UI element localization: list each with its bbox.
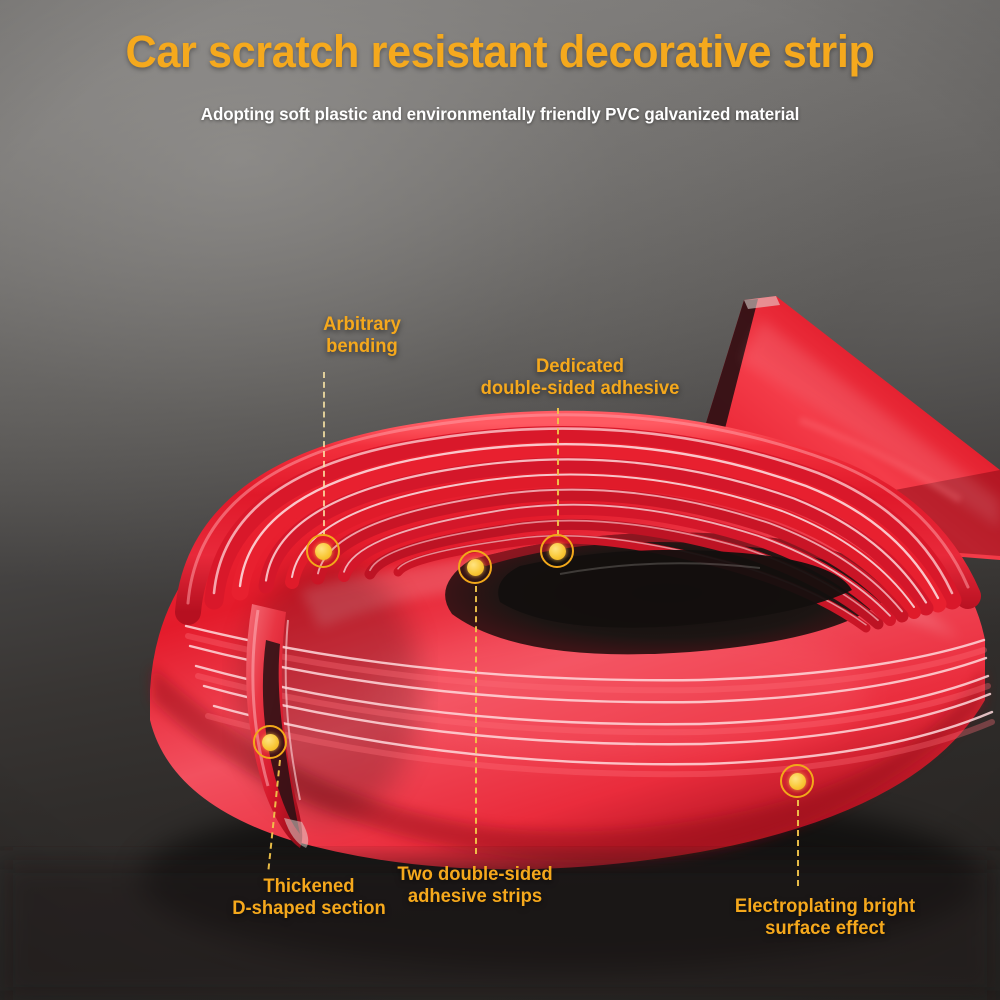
callout-label-electroplating-surface: Electroplating bright surface effect [704, 896, 947, 941]
callout-label-two-adhesive-strips: Two double-sided adhesive strips [383, 864, 567, 909]
page-subtitle: Adopting soft plastic and environmentall… [15, 104, 985, 125]
callout-label-arbitrary-bending: Arbitrary bending [275, 314, 450, 359]
page-title: Car scratch resistant decorative strip [20, 26, 980, 78]
product-poster: Car scratch resistant decorative strip A… [0, 0, 1000, 1000]
marker-electroplating-surface[interactable] [780, 764, 814, 798]
marker-dedicated-adhesive[interactable] [540, 534, 574, 568]
leader-line-arbitrary-bending [323, 372, 325, 536]
callout-label-dedicated-adhesive: Dedicated double-sided adhesive [425, 356, 735, 401]
marker-thickened-d-section[interactable] [253, 725, 287, 759]
leader-line-two-adhesive-strips [475, 586, 477, 854]
leader-line-electroplating-surface [797, 800, 799, 886]
leader-line-dedicated-adhesive [557, 408, 559, 536]
product-illustration [0, 0, 1000, 1000]
marker-two-adhesive-strips[interactable] [458, 550, 492, 584]
marker-arbitrary-bending[interactable] [306, 534, 340, 568]
